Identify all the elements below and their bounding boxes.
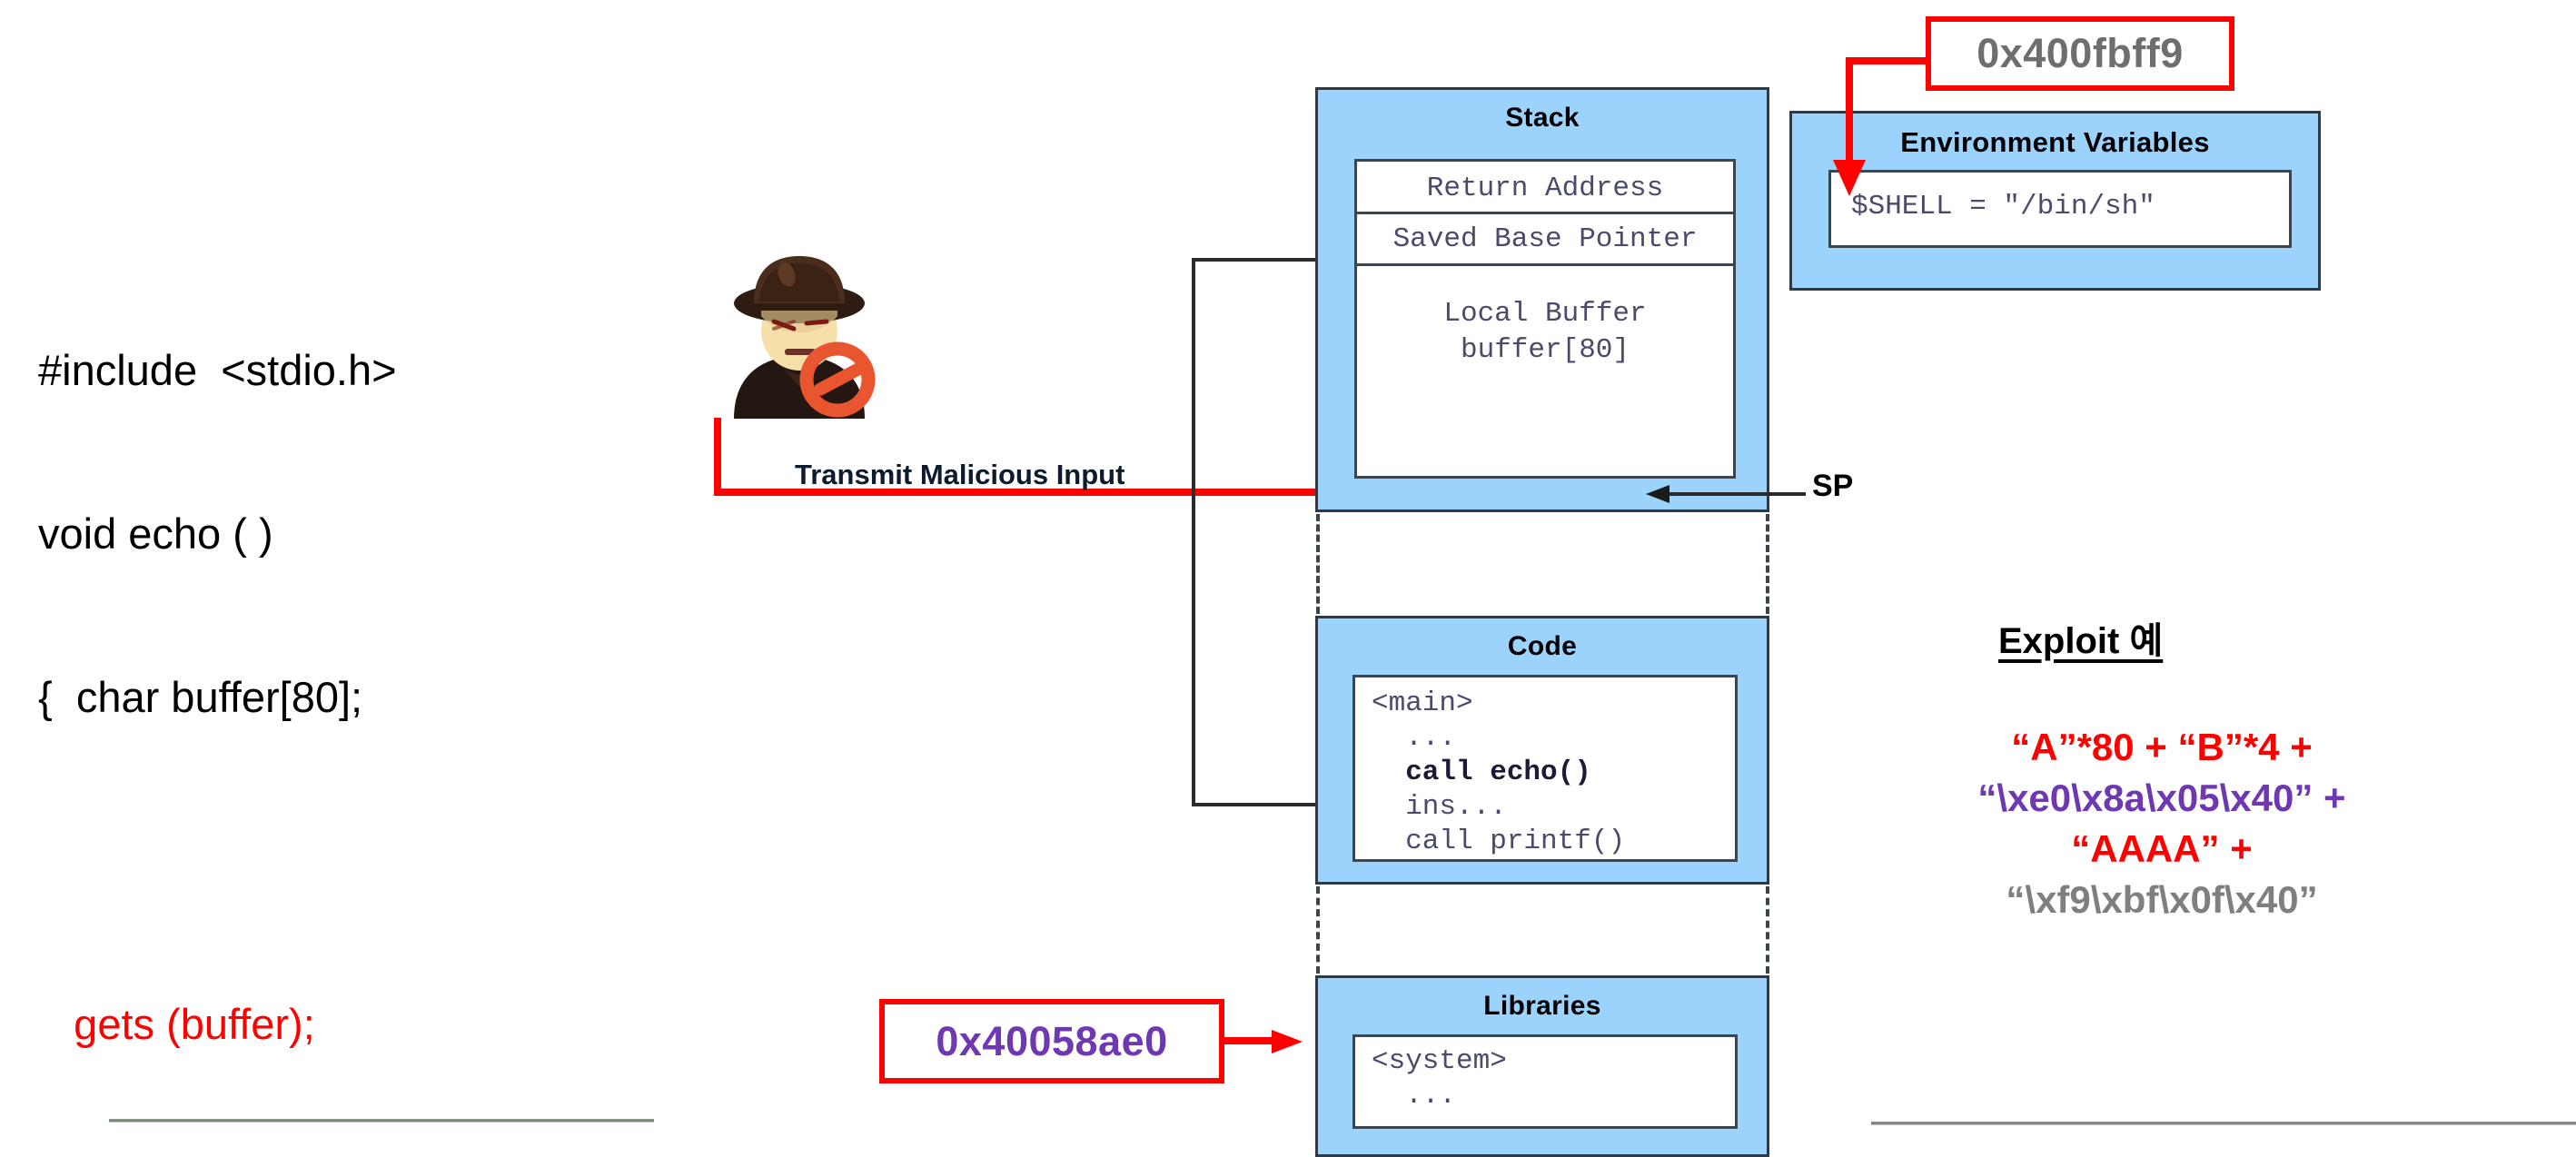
slide-canvas: #include <stdio.h> void echo ( ) { char … xyxy=(0,0,2576,1157)
library-line-system: <system> xyxy=(1372,1044,1507,1079)
libraries-title: Libraries xyxy=(1318,991,1767,1022)
system-address-arrowhead xyxy=(1272,1021,1319,1063)
footer-divider-left xyxy=(109,1119,654,1122)
exploit-payload: “A”*80 + “B”*4 + “\xe0\x8a\x05\x40” + “A… xyxy=(1844,722,2480,925)
environment-variables-title: Environment Variables xyxy=(1792,126,2318,159)
code-listing-box: <main> ... call echo() ins... call print… xyxy=(1352,675,1738,862)
library-line-ellipsis: ... xyxy=(1372,1079,1456,1113)
code-asm-line: ... xyxy=(1372,721,1456,756)
stack-slot-local-buffer: Local Buffer buffer[80] xyxy=(1357,296,1733,369)
attack-path-vertical xyxy=(714,418,721,496)
code-asm-line-call-printf: call printf() xyxy=(1372,825,1625,859)
environment-variable-entry-box: $SHELL = "/bin/sh" xyxy=(1828,170,2292,248)
environment-address-elbow-horizontal xyxy=(1846,57,1929,64)
stack-slot-saved-base-pointer: Saved Base Pointer xyxy=(1357,223,1733,255)
system-address-value: 0x40058ae0 xyxy=(936,1018,1167,1065)
code-panel: Code <main> ... call echo() ins... call … xyxy=(1315,616,1769,885)
code-title: Code xyxy=(1318,631,1767,662)
memory-gap-dash-right-2 xyxy=(1766,886,1769,974)
stack-title: Stack xyxy=(1318,103,1767,133)
exploit-section-title: Exploit 예 xyxy=(1998,611,2163,664)
stack-slot-return-address: Return Address xyxy=(1357,173,1733,204)
code-asm-line-ins: ins... xyxy=(1372,790,1507,825)
stack-panel: Stack Return Address Saved Base Pointer … xyxy=(1315,87,1769,512)
libraries-panel: Libraries <system> ... xyxy=(1315,975,1769,1157)
system-address-callout: 0x40058ae0 xyxy=(879,999,1224,1083)
libraries-listing-box: <system> ... xyxy=(1352,1034,1738,1129)
code-line: #include <stdio.h> xyxy=(38,343,619,398)
code-asm-line: <main> xyxy=(1372,687,1473,721)
memory-gap-dash-left-2 xyxy=(1316,886,1320,974)
footer-divider-right xyxy=(1871,1122,2576,1125)
memory-gap-dash-right-1 xyxy=(1766,514,1769,614)
environment-variable-entry: $SHELL = "/bin/sh" xyxy=(1851,191,2155,222)
code-line-blank xyxy=(38,834,619,888)
environment-address-callout: 0x400fbff9 xyxy=(1926,16,2234,91)
attacker-figure xyxy=(718,251,881,419)
return-address-link-vertical xyxy=(1192,258,1195,806)
code-line: void echo ( ) xyxy=(38,507,619,561)
code-asm-line-call-echo: call echo() xyxy=(1372,756,1591,790)
source-code-listing: #include <stdio.h> void echo ( ) { char … xyxy=(38,234,619,1157)
memory-gap-dash-left-1 xyxy=(1316,514,1320,614)
hacker-avatar xyxy=(718,251,881,419)
code-line-gets: gets (buffer); xyxy=(38,997,619,1052)
exploit-payload-line: “\xf9\xbf\x0f\x40” xyxy=(1844,875,2480,925)
stack-frame-box: Return Address Saved Base Pointer Local … xyxy=(1354,159,1736,479)
code-line: { char buffer[80]; xyxy=(38,670,619,725)
stack-pointer-label: SP xyxy=(1812,469,1853,504)
environment-address-arrowhead xyxy=(1828,160,1871,209)
stack-pointer-line xyxy=(1662,492,1806,496)
transmit-malicious-input-label: Transmit Malicious Input xyxy=(795,459,1125,491)
exploit-payload-line: “AAAA” + xyxy=(1844,824,2480,875)
stack-slot-divider xyxy=(1357,263,1733,266)
environment-address-value: 0x400fbff9 xyxy=(1977,30,2184,77)
exploit-payload-line: “A”*80 + “B”*4 + xyxy=(1844,722,2480,773)
stack-pointer-arrowhead xyxy=(1646,478,1682,512)
exploit-payload-line: “\xe0\x8a\x05\x40” + xyxy=(1844,773,2480,824)
stack-slot-divider xyxy=(1357,212,1733,214)
